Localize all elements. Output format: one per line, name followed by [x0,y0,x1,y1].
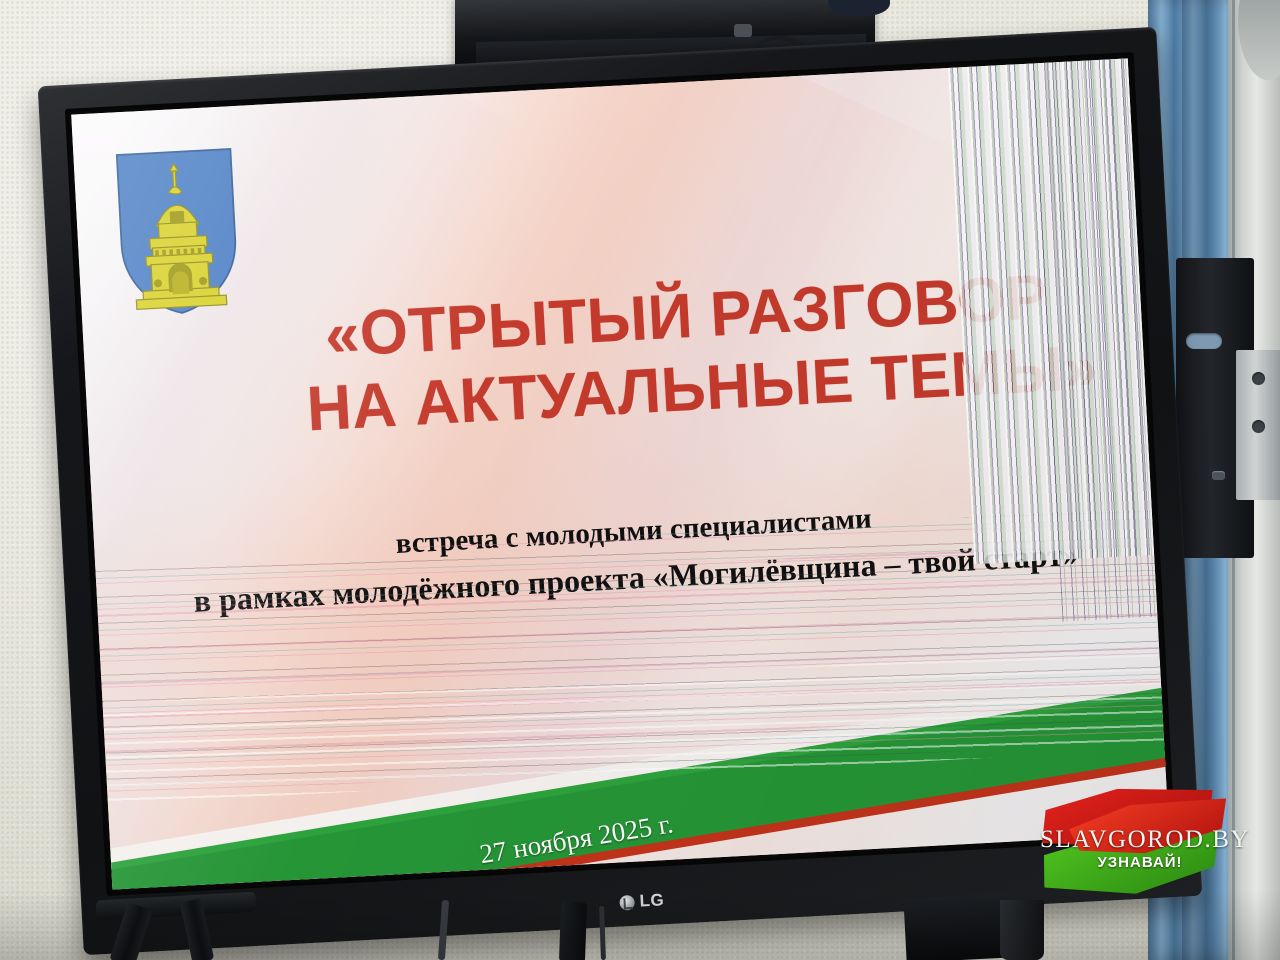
site-watermark: SLAVGOROD.BY УЗНАВАЙ! [1034,786,1244,898]
tv-screen[interactable]: «ОТРЫТЫЙ РАЗГОВОР НА АКТУАЛЬНЫЕ ТЕМЫ» вс… [71,58,1169,889]
bracket-slot [1186,333,1222,349]
floor-shadow [0,890,1280,960]
watermark-tagline: УЗНАВАЙ! [1040,854,1240,871]
watermark-site-name: SLAVGOROD.BY [1040,826,1240,854]
plate-hole [1252,420,1265,433]
rig-screw [734,24,752,37]
plate-hole [1252,372,1265,385]
bracket-screw [1212,471,1225,480]
lg-television: «ОТРЫТЫЙ РАЗГОВОР НА АКТУАЛЬНЫЕ ТЕМЫ» вс… [38,27,1203,955]
photo-scene: «ОТРЫТЫЙ РАЗГОВОР НА АКТУАЛЬНЫЕ ТЕМЫ» вс… [0,0,1280,960]
coat-of-arms-icon [114,142,242,323]
mount-metal-plate [1236,350,1280,500]
column-cap [1238,0,1280,80]
